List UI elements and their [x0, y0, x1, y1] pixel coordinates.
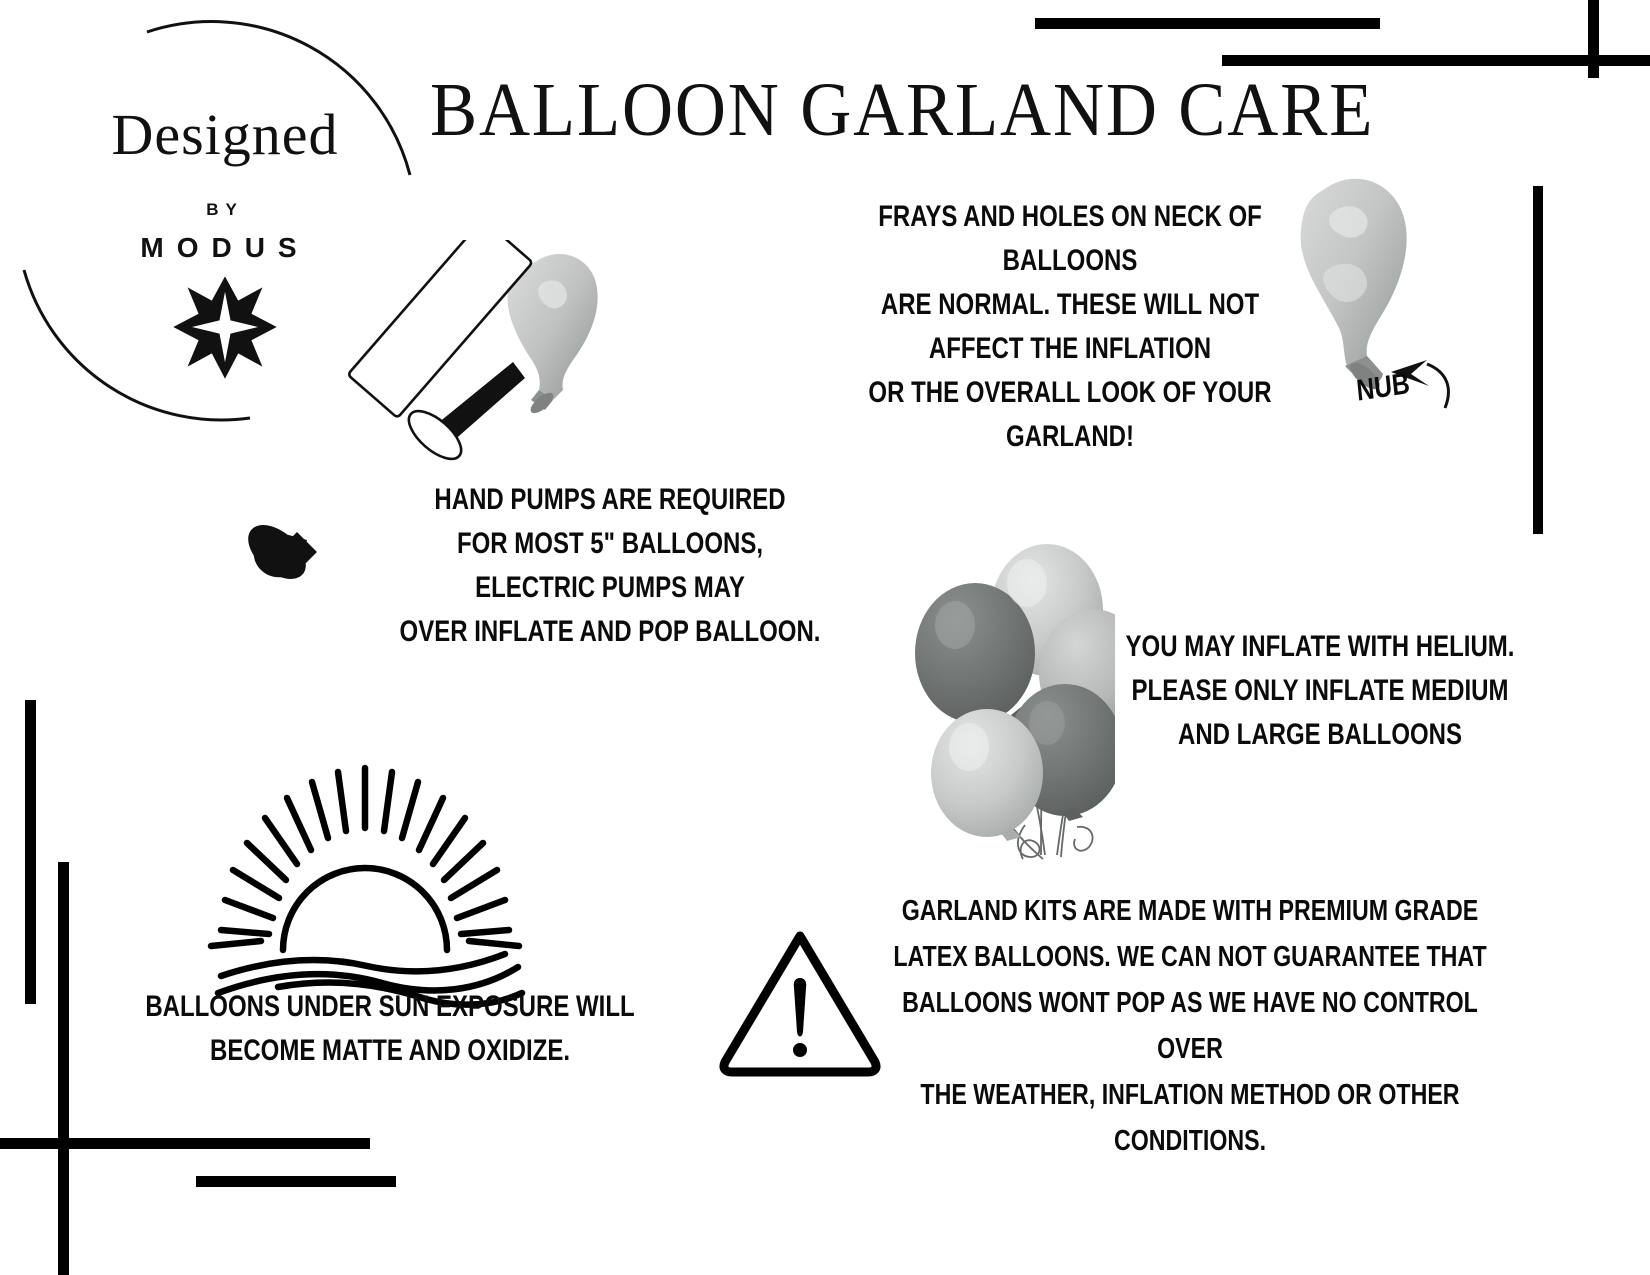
decor-rule-top-right-vertical: [1588, 0, 1599, 78]
warning-triangle-icon: [715, 920, 885, 1085]
page-title: BALLOON GARLAND CARE: [430, 72, 1248, 148]
frays-text: FRAYS AND HOLES ON NECK OF BALLOONS ARE …: [822, 195, 1318, 459]
warranty-text: GARLAND KITS ARE MADE WITH PREMIUM GRADE…: [878, 888, 1502, 1164]
decor-rule-top-right-2: [1222, 55, 1650, 66]
logo-wordmark: Designed: [80, 106, 370, 164]
hand-pump-text: HAND PUMPS ARE REQUIRED FOR MOST 5" BALL…: [362, 478, 858, 654]
decor-rule-top-right-1: [1035, 18, 1380, 29]
helium-text: YOU MAY INFLATE WITH HELIUM. PLEASE ONLY…: [1072, 625, 1568, 757]
sun-exposure-text: BALLOONS UNDER SUN EXPOSURE WILL BECOME …: [142, 985, 638, 1073]
decor-rule-bottom-left-vertical-2: [58, 862, 69, 1275]
poster-canvas: Designed BY MODUS BALLOON GARLAND CARE: [0, 0, 1650, 1275]
logo-by-label: BY: [80, 200, 370, 220]
decor-rule-right-vertical: [1533, 186, 1543, 534]
decor-rule-bottom-left-horizontal-1: [0, 1138, 370, 1149]
decor-rule-bottom-left-horizontal-2: [196, 1176, 396, 1187]
decor-rule-bottom-left-vertical-1: [25, 700, 36, 1004]
